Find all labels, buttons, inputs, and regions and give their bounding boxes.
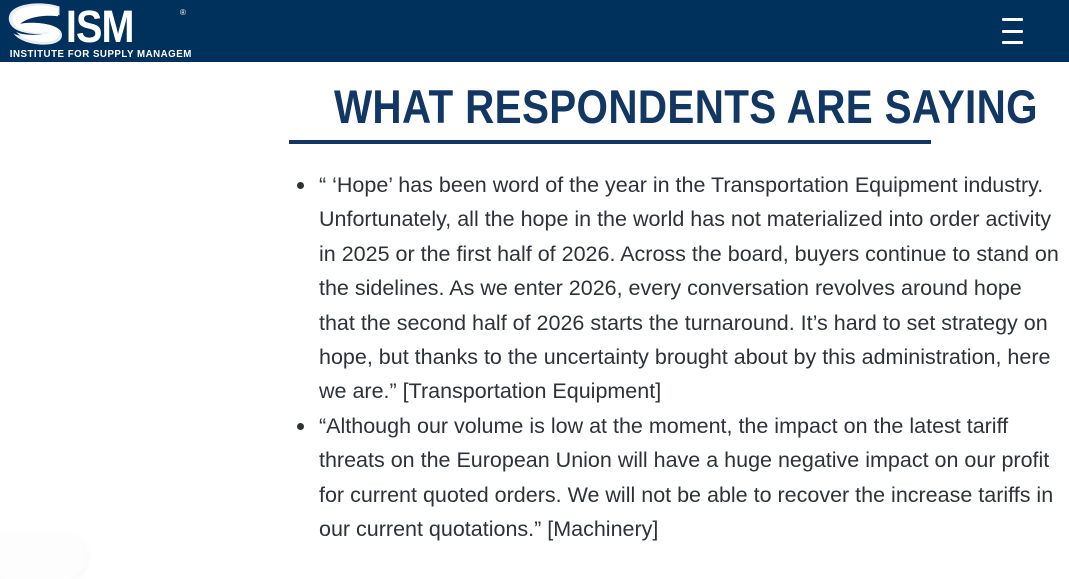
page-title-wrap: WHAT RESPONDENTS ARE SAYING bbox=[289, 80, 931, 144]
site-logo-link[interactable]: ISM ® INSTITUTE FOR SUPPLY MANAGEMENT bbox=[6, 2, 192, 60]
page-title: WHAT RESPONDENTS ARE SAYING bbox=[334, 80, 886, 144]
bullet-icon bbox=[297, 423, 304, 430]
floating-widget-shadow[interactable] bbox=[0, 535, 86, 579]
list-item: “Although our volume is low at the momen… bbox=[289, 409, 1059, 547]
quote-text: “Although our volume is low at the momen… bbox=[319, 409, 1059, 547]
list-item: “ ‘Hope’ has been word of the year in th… bbox=[289, 168, 1059, 409]
hamburger-bar-2 bbox=[1002, 30, 1023, 33]
svg-text:ISM: ISM bbox=[66, 2, 134, 52]
content-column: WHAT RESPONDENTS ARE SAYING “ ‘Hope’ has… bbox=[289, 80, 1059, 546]
svg-text:®: ® bbox=[180, 8, 186, 17]
svg-text:INSTITUTE FOR SUPPLY MANAGEMEN: INSTITUTE FOR SUPPLY MANAGEMENT bbox=[10, 49, 192, 60]
site-header: ISM ® INSTITUTE FOR SUPPLY MANAGEMENT bbox=[0, 0, 1069, 62]
hamburger-bar-3 bbox=[1002, 41, 1023, 44]
bullet-icon bbox=[297, 182, 304, 189]
ism-swoosh-logo-icon: ISM ® INSTITUTE FOR SUPPLY MANAGEMENT bbox=[6, 2, 192, 60]
quote-text: “ ‘Hope’ has been word of the year in th… bbox=[319, 168, 1059, 409]
hamburger-bar-1 bbox=[1002, 18, 1023, 21]
page-body: WHAT RESPONDENTS ARE SAYING “ ‘Hope’ has… bbox=[0, 62, 1069, 565]
hamburger-menu-icon[interactable] bbox=[1000, 18, 1024, 44]
respondent-quote-list: “ ‘Hope’ has been word of the year in th… bbox=[289, 168, 1059, 546]
